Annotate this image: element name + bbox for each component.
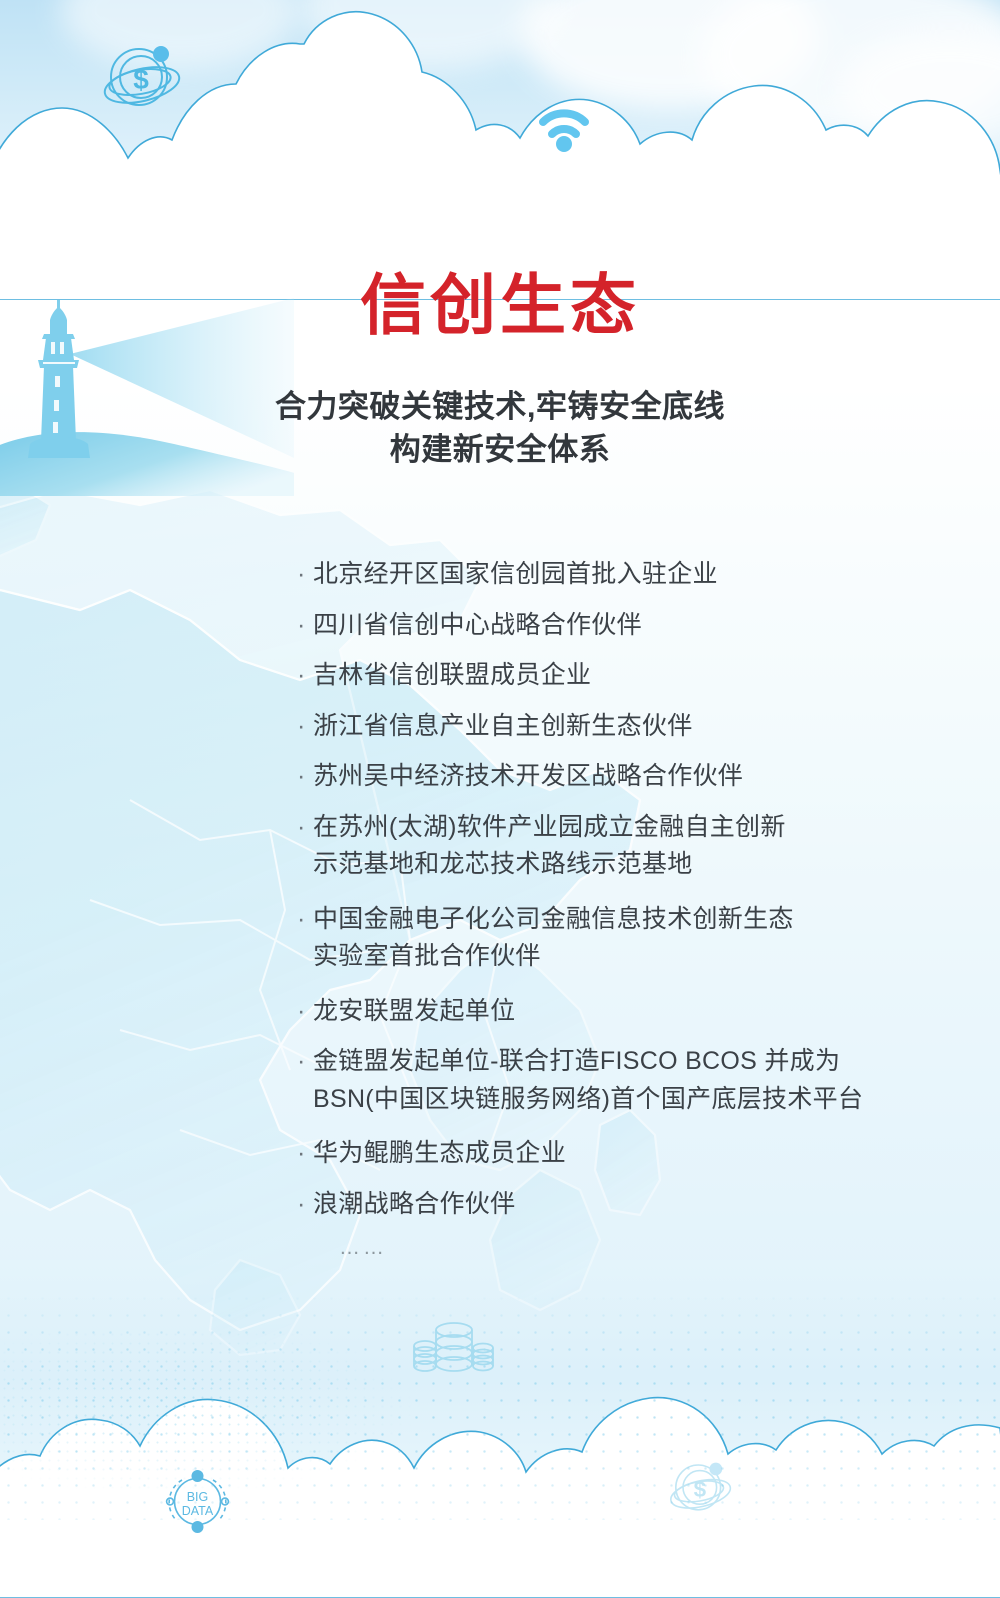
list-item-line: 在苏州(太湖)软件产业园成立金融自主创新 (313, 809, 937, 847)
currency-symbol: $ (133, 64, 149, 95)
dollar-coin-orbit-icon: $ (95, 33, 190, 125)
list-item: ·苏州吴中经济技术开发区战略合作伙伴 (297, 758, 937, 796)
list-item-line: 实验室首批合作伙伴 (313, 938, 937, 976)
coin-stack-icon (412, 1312, 496, 1382)
list-item-line: 浙江省信息产业自主创新生态伙伴 (313, 708, 937, 746)
bullet-dot-icon: · (297, 809, 313, 847)
list-item-line: 金链盟发起单位-联合打造FISCO BCOS 并成为 (313, 1043, 937, 1081)
credentials-list: ·北京经开区国家信创园首批入驻企业·四川省信创中心战略合作伙伴·吉林省信创联盟成… (297, 556, 937, 1260)
subtitle-line-2: 构建新安全体系 (0, 429, 1000, 472)
list-item: ·北京经开区国家信创园首批入驻企业 (297, 556, 937, 594)
list-item-line: 中国金融电子化公司金融信息技术创新生态 (313, 901, 937, 939)
big-data-label-line1: BIG (187, 1490, 209, 1504)
list-item: ·中国金融电子化公司金融信息技术创新生态实验室首批合作伙伴 (297, 901, 937, 976)
big-data-icon: BIG DATA (160, 1464, 235, 1539)
bullet-dot-icon: · (297, 901, 313, 939)
dollar-coin-orbit-icon-bottom: $ (663, 1452, 739, 1526)
bullet-dot-icon: · (297, 1135, 313, 1173)
list-item-text: 金链盟发起单位-联合打造FISCO BCOS 并成为BSN(中国区块链服务网络)… (313, 1043, 937, 1118)
list-item-text: 龙安联盟发起单位 (313, 993, 937, 1031)
bullet-dot-icon: · (297, 657, 313, 695)
list-item-text: 四川省信创中心战略合作伙伴 (313, 607, 937, 645)
list-item-line: 浪潮战略合作伙伴 (313, 1186, 937, 1224)
list-item-text: 苏州吴中经济技术开发区战略合作伙伴 (313, 758, 937, 796)
list-item: ·吉林省信创联盟成员企业 (297, 657, 937, 695)
list-item-line: BSN(中国区块链服务网络)首个国产底层技术平台 (313, 1081, 937, 1119)
list-item-text: 中国金融电子化公司金融信息技术创新生态实验室首批合作伙伴 (313, 901, 937, 976)
list-item-text: 北京经开区国家信创园首批入驻企业 (313, 556, 937, 594)
bullet-dot-icon: · (297, 1043, 313, 1081)
list-item-line: 四川省信创中心战略合作伙伴 (313, 607, 937, 645)
list-item-text: 华为鲲鹏生态成员企业 (313, 1135, 937, 1173)
bullet-dot-icon: · (297, 708, 313, 746)
bullet-dot-icon: · (297, 993, 313, 1031)
list-item-text: 吉林省信创联盟成员企业 (313, 657, 937, 695)
page-subtitle: 合力突破关键技术,牢铸安全底线 构建新安全体系 (0, 386, 1000, 472)
list-item: ·四川省信创中心战略合作伙伴 (297, 607, 937, 645)
list-item-line: 龙安联盟发起单位 (313, 993, 937, 1031)
page-title: 信创生态 (0, 272, 1000, 338)
list-item: ·华为鲲鹏生态成员企业 (297, 1135, 937, 1173)
list-item: ·浪潮战略合作伙伴 (297, 1186, 937, 1224)
list-item-text: 浙江省信息产业自主创新生态伙伴 (313, 708, 937, 746)
currency-symbol: $ (694, 1477, 707, 1502)
bullet-dot-icon: · (297, 607, 313, 645)
list-item-text: 浪潮战略合作伙伴 (313, 1186, 937, 1224)
list-item-line: 吉林省信创联盟成员企业 (313, 657, 937, 695)
list-ellipsis: …… (339, 1236, 937, 1260)
big-data-label-line2: DATA (182, 1504, 214, 1518)
list-item-line: 华为鲲鹏生态成员企业 (313, 1135, 937, 1173)
wifi-icon (533, 98, 595, 154)
list-item-line: 示范基地和龙芯技术路线示范基地 (313, 846, 937, 884)
list-item: ·龙安联盟发起单位 (297, 993, 937, 1031)
poster-canvas: $ (0, 0, 1000, 1598)
subtitle-line-1: 合力突破关键技术,牢铸安全底线 (0, 386, 1000, 429)
list-item-line: 苏州吴中经济技术开发区战略合作伙伴 (313, 758, 937, 796)
list-item: ·在苏州(太湖)软件产业园成立金融自主创新示范基地和龙芯技术路线示范基地 (297, 809, 937, 884)
list-item: ·浙江省信息产业自主创新生态伙伴 (297, 708, 937, 746)
list-item-line: 北京经开区国家信创园首批入驻企业 (313, 556, 937, 594)
list-item-text: 在苏州(太湖)软件产业园成立金融自主创新示范基地和龙芯技术路线示范基地 (313, 809, 937, 884)
bullet-dot-icon: · (297, 758, 313, 796)
bullet-dot-icon: · (297, 556, 313, 594)
list-item: ·金链盟发起单位-联合打造FISCO BCOS 并成为BSN(中国区块链服务网络… (297, 1043, 937, 1118)
bullet-dot-icon: · (297, 1186, 313, 1224)
